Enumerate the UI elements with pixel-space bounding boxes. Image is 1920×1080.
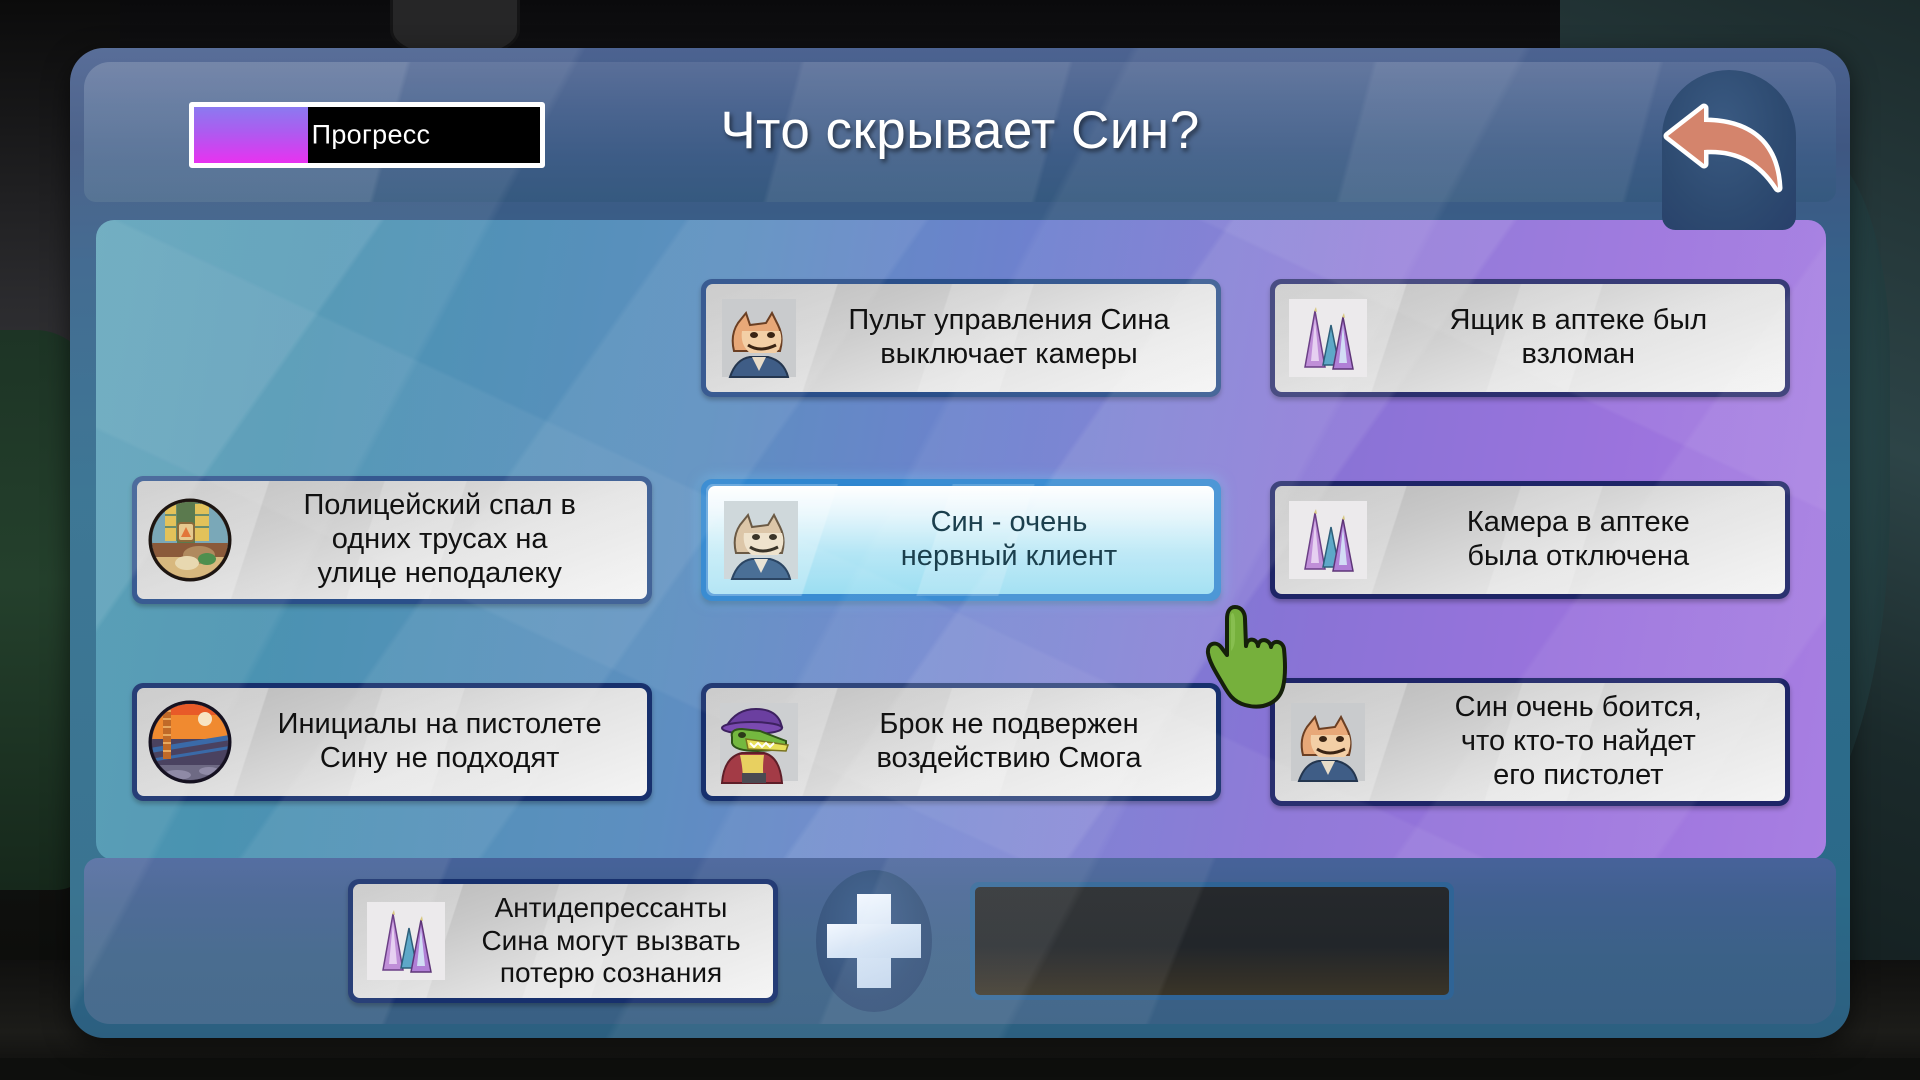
footer-row: Антидепрессанты Сина могут вызвать потер…	[84, 858, 1836, 1024]
deduction-window: Прогресс Что скрывает Син?	[70, 48, 1850, 1038]
clue-card-inner: Син - очень нервный клиент	[708, 486, 1214, 594]
clue-card-police-slept[interactable]: Полицейский спал в одних трусах на улице…	[132, 476, 652, 604]
background-floor-strip	[0, 1058, 1920, 1080]
clue-card-text: Ящик в аптеке был взломан	[1385, 304, 1771, 372]
back-button[interactable]	[1644, 56, 1812, 216]
add-clue-button[interactable]	[816, 870, 932, 1012]
purple-cones-icon	[1285, 295, 1371, 381]
clue-card-pharmacy-drawer[interactable]: Ящик в аптеке был взломан	[1270, 279, 1790, 397]
clue-grid: Пульт управления Сина выключает камеры	[96, 220, 1826, 860]
clue-board: Пульт управления Сина выключает камеры	[96, 220, 1826, 860]
clue-card-sin-fears-gun[interactable]: Син очень боится, что кто-то найдет его …	[1270, 678, 1790, 806]
clue-card-text: Полицейский спал в одних трусах на улице…	[247, 489, 633, 591]
progress-bar-label: Прогресс	[194, 120, 540, 151]
purple-cones-icon	[363, 898, 449, 984]
clue-card-pharmacy-camera-off[interactable]: Камера в аптеке была отключена	[1270, 481, 1790, 599]
street-scene-circle-icon	[147, 497, 233, 583]
clue-card-inner: Ящик в аптеке был взломан	[1275, 284, 1785, 392]
plus-icon-bar	[827, 924, 921, 958]
sin-character-icon	[1285, 699, 1371, 785]
window-header: Прогресс Что скрывает Син?	[84, 62, 1836, 202]
brock-crocodile-icon	[716, 699, 802, 785]
empty-clue-slot-inner	[975, 887, 1449, 995]
sunset-bridge-circle-icon	[147, 699, 233, 785]
purple-cones-icon	[1285, 497, 1371, 583]
clue-card-inner: Камера в аптеке была отключена	[1275, 486, 1785, 594]
clue-card-inner: Антидепрессанты Сина могут вызвать потер…	[353, 884, 773, 998]
game-screen: Прогресс Что скрывает Син?	[0, 0, 1920, 1080]
clue-card-inner: Син очень боится, что кто-то найдет его …	[1275, 683, 1785, 801]
clue-card-inner: Полицейский спал в одних трусах на улице…	[137, 481, 647, 599]
clue-card-antidepressants[interactable]: Антидепрессанты Сина могут вызвать потер…	[348, 879, 778, 1003]
clue-card-text: Син - очень нервный клиент	[818, 506, 1200, 574]
sin-character-gray-icon	[718, 497, 804, 583]
clue-card-text: Антидепрессанты Сина могут вызвать потер…	[463, 892, 759, 990]
clue-card-text: Син очень боится, что кто-то найдет его …	[1385, 691, 1771, 793]
window-footer: Антидепрессанты Сина могут вызвать потер…	[84, 858, 1836, 1024]
clue-card-text: Инициалы на пистолете Сину не подходят	[247, 708, 633, 776]
clue-card-sin-remote-cameras[interactable]: Пульт управления Сина выключает камеры	[701, 279, 1221, 397]
clue-card-inner: Пульт управления Сина выключает камеры	[706, 284, 1216, 392]
clue-card-text: Брок не подвержен воздействию Смога	[816, 708, 1202, 776]
clue-card-gun-initials[interactable]: Инициалы на пистолете Сину не подходят	[132, 683, 652, 801]
empty-clue-slot[interactable]	[970, 882, 1454, 1000]
back-arrow-icon	[1652, 64, 1804, 214]
clue-card-sin-nervous-client[interactable]: Син - очень нервный клиент	[701, 479, 1221, 601]
clue-card-inner: Брок не подвержен воздействию Смога	[706, 688, 1216, 796]
clue-card-text: Пульт управления Сина выключает камеры	[816, 304, 1202, 372]
clue-card-inner: Инициалы на пистолете Сину не подходят	[137, 688, 647, 796]
clue-card-text: Камера в аптеке была отключена	[1385, 506, 1771, 574]
progress-bar[interactable]: Прогресс	[189, 102, 545, 168]
sin-character-icon	[716, 295, 802, 381]
clue-card-brock-smog[interactable]: Брок не подвержен воздействию Смога	[701, 683, 1221, 801]
